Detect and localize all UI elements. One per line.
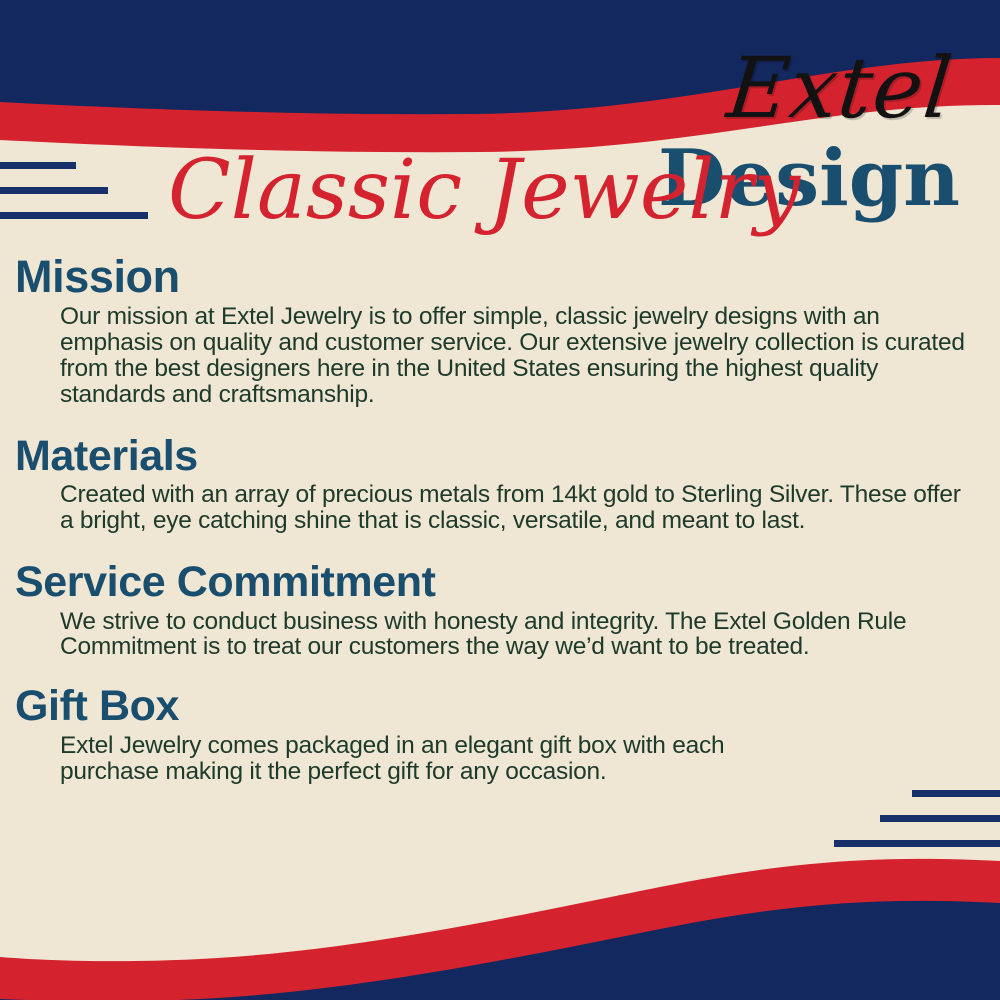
section-mission: Mission Our mission at Extel Jewelry is … [0, 252, 1000, 408]
bottom-wave-decoration [0, 845, 1000, 1000]
left-rule-medium [0, 187, 108, 194]
bottom-wave-navy-band [0, 901, 1000, 1000]
section-service-commitment: Service Commitment We strive to conduct … [0, 558, 1000, 660]
poster-canvas: Extel Design Classic Jewelry Mission Our… [0, 0, 1000, 1000]
brand-script-wordmark: Extel [724, 46, 957, 130]
poster-header: Extel Design Classic Jewelry [0, 0, 1000, 250]
section-mission-heading: Mission [15, 252, 1000, 302]
section-gift-box: Gift Box Extel Jewelry comes packaged in… [0, 682, 1000, 784]
bottom-wave-red-band [0, 859, 1000, 1000]
right-decorative-rules [834, 790, 1000, 847]
section-service-commitment-heading: Service Commitment [15, 558, 1000, 606]
section-materials: Materials Created with an array of preci… [0, 432, 1000, 534]
section-materials-body: Created with an array of precious metals… [60, 482, 970, 534]
section-gift-box-heading: Gift Box [15, 682, 1000, 730]
section-materials-heading: Materials [15, 432, 1000, 480]
left-rule-long [0, 212, 148, 219]
content-sections: Mission Our mission at Extel Jewelry is … [0, 252, 1000, 785]
section-service-commitment-body: We strive to conduct business with hones… [60, 609, 970, 661]
left-decorative-rules [0, 162, 148, 219]
right-rule-short [912, 790, 1000, 797]
right-rule-medium [880, 815, 1000, 822]
right-rule-long [834, 840, 1000, 847]
page-title: Classic Jewelry [168, 144, 800, 238]
section-gift-box-body: Extel Jewelry comes packaged in an elega… [60, 733, 800, 785]
left-rule-short [0, 162, 76, 169]
section-mission-body: Our mission at Extel Jewelry is to offer… [60, 304, 970, 408]
